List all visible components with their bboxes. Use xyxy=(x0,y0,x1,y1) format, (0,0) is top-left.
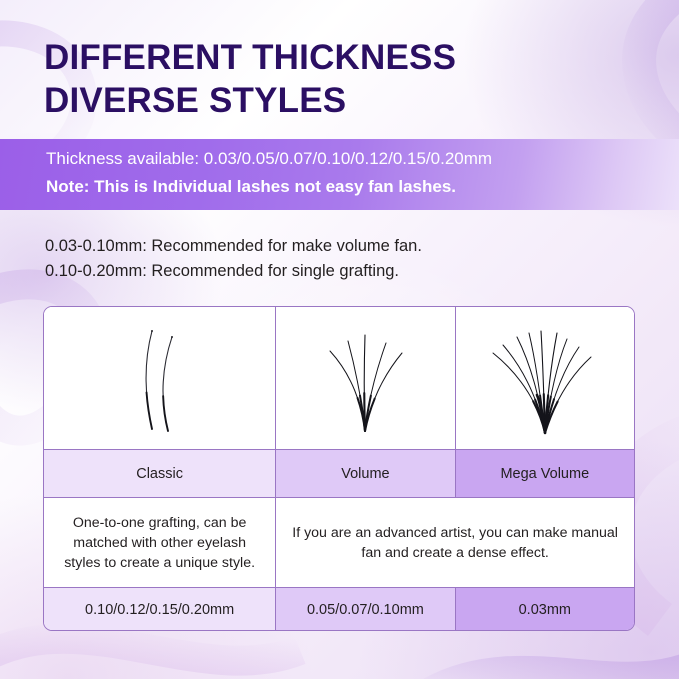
recommendation-item-2: 0.10-0.20mm: Recommended for single graf… xyxy=(45,259,422,284)
volume-fan-illustration xyxy=(300,313,430,443)
label-cell-classic: Classic xyxy=(44,450,276,497)
table-row-descriptions: One-to-one grafting, can be matched with… xyxy=(44,498,634,587)
recommendation-item-1: 0.03-0.10mm: Recommended for make volume… xyxy=(45,234,422,259)
table-row-specs: 0.10/0.12/0.15/0.20mm 0.05/0.07/0.10mm 0… xyxy=(44,587,634,631)
description-cell-volume-mega: If you are an advanced artist, you can m… xyxy=(276,498,634,587)
thickness-available-text: Thickness available: 0.03/0.05/0.07/0.10… xyxy=(46,149,492,169)
page-title-line-2: DIVERSE STYLES xyxy=(44,79,644,122)
spec-cell-mega-volume: 0.03mm xyxy=(456,588,634,631)
banner-note-text: Note: This is Individual lashes not easy… xyxy=(46,177,456,197)
label-cell-volume: Volume xyxy=(276,450,455,497)
spec-cell-classic: 0.10/0.12/0.15/0.20mm xyxy=(44,588,276,631)
page-title-line-1: DIFFERENT THICKNESS xyxy=(44,38,456,77)
label-cell-mega-volume: Mega Volume xyxy=(456,450,634,497)
lash-comparison-table: Classic Volume Mega Volume One-to-one gr… xyxy=(43,306,635,631)
infographic-page: DIFFERENT THICKNESS DIVERSE STYLES Thick… xyxy=(0,0,679,679)
cell-mega-volume-illustration xyxy=(456,307,634,449)
table-row-illustrations xyxy=(44,307,634,449)
cell-volume-illustration xyxy=(276,307,455,449)
table-row-labels: Classic Volume Mega Volume xyxy=(44,449,634,498)
page-title: DIFFERENT THICKNESS DIVERSE STYLES xyxy=(44,36,644,122)
thickness-banner: Thickness available: 0.03/0.05/0.07/0.10… xyxy=(0,139,679,210)
cell-classic-illustration xyxy=(44,307,276,449)
recommendation-list: 0.03-0.10mm: Recommended for make volume… xyxy=(45,234,422,284)
spec-cell-volume: 0.05/0.07/0.10mm xyxy=(276,588,455,631)
classic-lash-illustration xyxy=(100,313,220,443)
description-cell-classic: One-to-one grafting, can be matched with… xyxy=(44,498,276,587)
mega-volume-fan-illustration xyxy=(475,313,615,443)
